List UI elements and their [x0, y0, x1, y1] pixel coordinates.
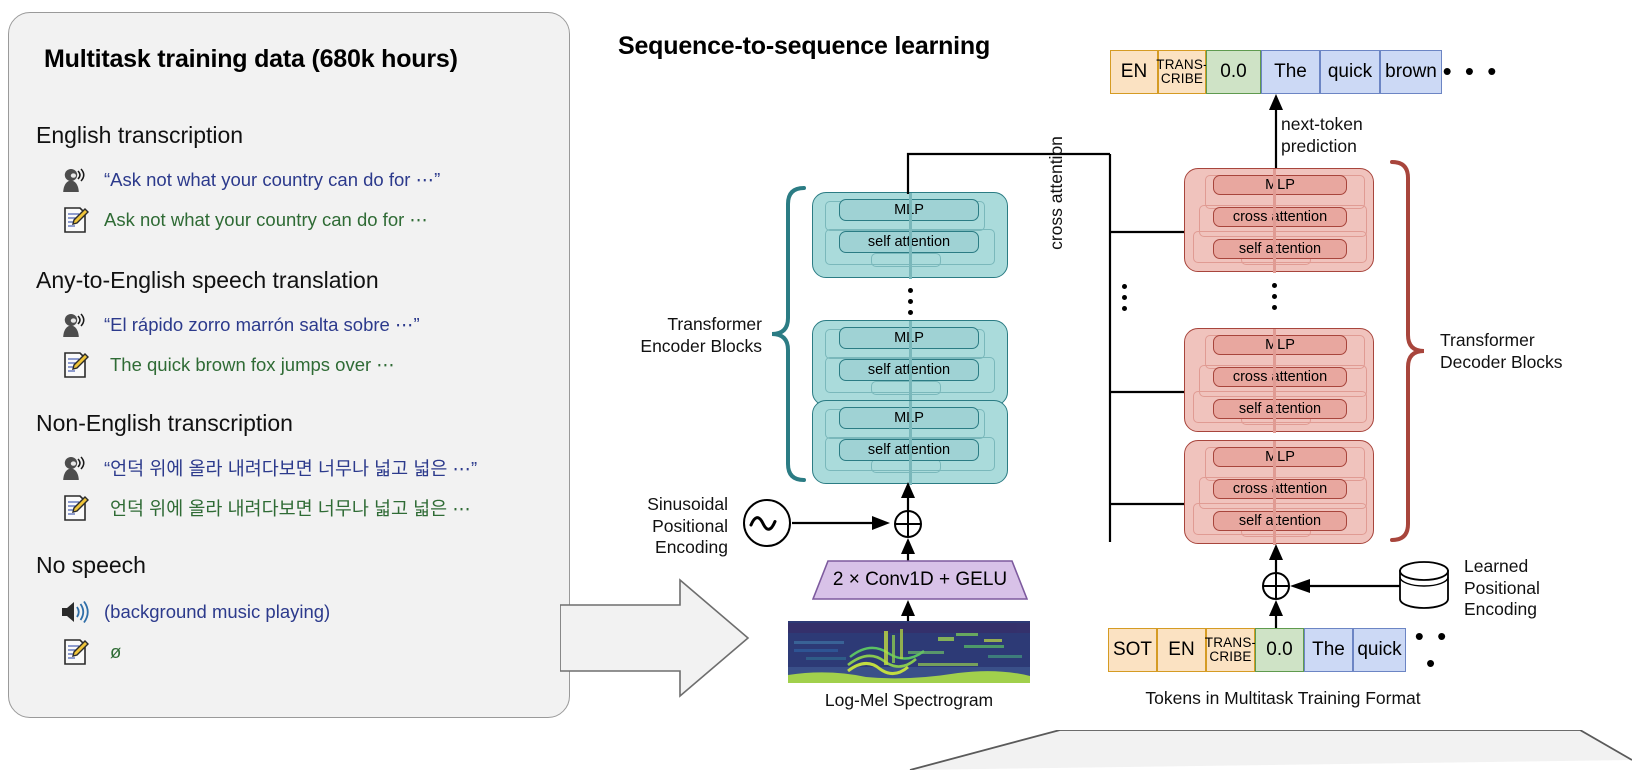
- sublayer-mlp: MLP: [1213, 175, 1347, 195]
- sublayer-mlp: MLP: [1213, 335, 1347, 355]
- block-trunk: [909, 193, 912, 279]
- memo-icon: [58, 350, 92, 380]
- example-text-row: ø: [58, 635, 330, 669]
- bottom-flow-arrow-partial: [880, 730, 1632, 770]
- sublayer-cross-attention: cross attention: [1213, 479, 1347, 499]
- sinusoidal-pe-label: Sinusoidal Positional Encoding: [600, 494, 728, 559]
- section-no-speech: No speech (background music playing) ø: [36, 552, 330, 669]
- token-cell[interactable]: EN: [1157, 628, 1206, 672]
- token-cell[interactable]: SOT: [1108, 628, 1157, 672]
- block-trunk: [1273, 329, 1276, 433]
- example-audio-text: “El rápido zorro marrón salta sobre ⋯”: [104, 314, 420, 336]
- token-cell[interactable]: TRANS- CRIBE: [1158, 50, 1206, 94]
- page-title: Multitask training data (680k hours): [44, 45, 564, 74]
- example-audio-text: “언덕 위에 올라 내려다보면 너무나 넓고 넓은 ⋯”: [104, 455, 477, 481]
- encoder-blocks-label: Transformer Encoder Blocks: [620, 314, 762, 357]
- memo-icon: [58, 493, 92, 523]
- section-heading: Any-to-English speech translation: [36, 267, 420, 294]
- section-speech-translation: Any-to-English speech translation “El rá…: [36, 267, 420, 382]
- example-text-text: The quick brown fox jumps over ⋯: [110, 354, 395, 376]
- section-heading: No speech: [36, 552, 330, 579]
- example-audio-row: (background music playing): [58, 595, 330, 629]
- token-cell[interactable]: 0.0: [1206, 50, 1261, 94]
- example-text-text: ø: [110, 641, 121, 663]
- conv1d-label: 2 × Conv1D + GELU: [812, 560, 1028, 600]
- example-audio-text: “Ask not what your country can do for ⋯”: [104, 169, 440, 191]
- residual-path: [871, 253, 941, 267]
- example-text-text: 언덕 위에 올라 내려다보면 너무나 넓고 넓은 ⋯: [110, 495, 471, 521]
- sublayer-cross-attention: cross attention: [1213, 367, 1347, 387]
- output-token-sequence: EN TRANS- CRIBE 0.0 The quick brown • • …: [1110, 50, 1500, 94]
- speaking-head-icon: [58, 165, 92, 195]
- memo-icon: [58, 637, 92, 667]
- diagram-title: Sequence-to-sequence learning: [618, 32, 990, 61]
- learned-pe-cylinder-icon: [1396, 559, 1452, 611]
- token-cell[interactable]: The: [1261, 50, 1320, 94]
- residual-path: [871, 381, 941, 395]
- decoder-blocks-label: Transformer Decoder Blocks: [1440, 330, 1620, 373]
- decoder-block: MLP cross attention self attention: [1184, 168, 1374, 272]
- token-cell[interactable]: brown: [1380, 50, 1442, 94]
- token-ellipsis: • • •: [1406, 628, 1458, 672]
- example-audio-row: “Ask not what your country can do for ⋯”: [58, 163, 440, 197]
- sinusoid-to-sum-arrow: [792, 513, 892, 533]
- token-cell[interactable]: 0.0: [1255, 628, 1304, 672]
- tokens-caption: Tokens in Multitask Training Format: [1108, 688, 1458, 710]
- example-audio-row: “언덕 위에 올라 내려다보면 너무나 넓고 넓은 ⋯”: [58, 451, 477, 485]
- token-ellipsis: • • •: [1442, 50, 1500, 94]
- encoder-brace: [770, 186, 812, 482]
- input-token-sequence: SOT EN TRANS- CRIBE 0.0 The quick • • •: [1108, 628, 1458, 672]
- sublayer-mlp: MLP: [1213, 447, 1347, 467]
- example-text-row: Ask not what your country can do for ⋯: [58, 203, 440, 237]
- encoder-block: MLP self attention: [812, 192, 1008, 278]
- decoder-block: MLP cross attention self attention: [1184, 440, 1374, 544]
- sublayer-self-attention: self attention: [1213, 399, 1347, 419]
- decoder-brace: [1384, 160, 1426, 542]
- example-text-row: 언덕 위에 올라 내려다보면 너무나 넓고 넓은 ⋯: [58, 491, 477, 525]
- section-heading: English transcription: [36, 122, 440, 149]
- token-cell[interactable]: EN: [1110, 50, 1158, 94]
- learned-pe-to-sum-arrow: [1288, 576, 1400, 596]
- block-trunk: [909, 401, 912, 485]
- section-heading: Non-English transcription: [36, 410, 477, 437]
- token-cell[interactable]: quick: [1320, 50, 1380, 94]
- spectrogram-caption: Log-Mel Spectrogram: [788, 690, 1030, 712]
- sublayer-cross-attention: cross attention: [1213, 207, 1347, 227]
- memo-icon: [58, 205, 92, 235]
- speaking-head-icon: [58, 310, 92, 340]
- example-audio-text: (background music playing): [104, 601, 330, 623]
- decoder-vertical-ellipsis: [1272, 283, 1277, 310]
- block-trunk: [1273, 169, 1276, 273]
- encoder-block: MLP self attention: [812, 400, 1008, 484]
- section-english-transcription: English transcription “Ask not what your…: [36, 122, 440, 237]
- decoder-block: MLP cross attention self attention: [1184, 328, 1374, 432]
- log-mel-spectrogram: [788, 621, 1030, 683]
- example-audio-row: “El rápido zorro marrón salta sobre ⋯”: [58, 308, 420, 342]
- sinusoid-icon: [742, 498, 792, 548]
- encoder-vertical-ellipsis: [908, 288, 913, 315]
- encoder-block: MLP self attention: [812, 320, 1008, 406]
- cross-attention-vertical-ellipsis: [1122, 284, 1127, 311]
- speaking-head-icon: [58, 453, 92, 483]
- example-text-row: The quick brown fox jumps over ⋯: [58, 348, 420, 382]
- sublayer-self-attention: self attention: [1213, 239, 1347, 259]
- section-non-english-transcription: Non-English transcription “언덕 위에 올라 내려다보…: [36, 410, 477, 525]
- next-token-prediction-label: next-token prediction: [1281, 114, 1363, 157]
- loudspeaker-icon: [58, 597, 92, 627]
- cross-attention-label: cross attention: [1046, 128, 1068, 258]
- token-cell[interactable]: quick: [1353, 628, 1406, 672]
- learned-pe-label: Learned Positional Encoding: [1464, 556, 1614, 621]
- block-trunk: [909, 321, 912, 407]
- sublayer-self-attention: self attention: [1213, 511, 1347, 531]
- token-cell[interactable]: The: [1304, 628, 1353, 672]
- encoder-sum-node: [892, 508, 924, 540]
- panel-to-diagram-arrow: [560, 578, 750, 698]
- token-cell[interactable]: TRANS- CRIBE: [1206, 628, 1255, 672]
- input-tokens-to-sum-arrow: [1266, 600, 1286, 630]
- residual-path: [871, 459, 941, 473]
- example-text-text: Ask not what your country can do for ⋯: [104, 209, 428, 231]
- block-trunk: [1273, 441, 1276, 545]
